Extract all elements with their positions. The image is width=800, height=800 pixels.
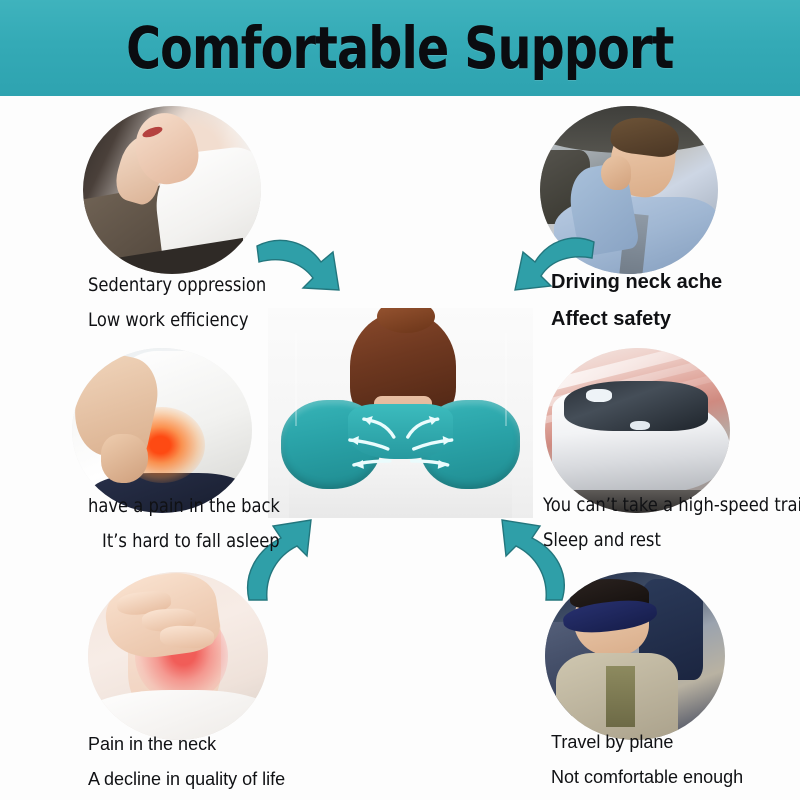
caption-driving-neck-ache: Driving neck ache Affect safety bbox=[551, 272, 722, 329]
caption-back-pain: have a pain in the back It’s hard to fal… bbox=[88, 497, 311, 551]
caption-line-1: have a pain in the back bbox=[88, 497, 280, 516]
hand-on-neck-shape bbox=[601, 156, 631, 190]
caption-line-1: Driving neck ache bbox=[551, 272, 722, 292]
caption-sedentary-oppression: Sedentary oppression Low work efficiency bbox=[88, 276, 295, 330]
finger-shape bbox=[160, 625, 215, 649]
caption-line-1: Pain in the neck bbox=[88, 735, 285, 753]
caption-neck-pain: Pain in the neck A decline in quality of… bbox=[88, 735, 285, 788]
high-speed-train-photo bbox=[545, 348, 730, 513]
caption-travel-by-plane: Travel by plane Not comfortable enough bbox=[551, 733, 743, 786]
pillow-seam bbox=[505, 333, 507, 425]
photo-content bbox=[83, 106, 261, 274]
caption-line-2: Not comfortable enough bbox=[551, 768, 743, 786]
pillow-flow-arrows-icon bbox=[316, 400, 486, 484]
photo-content bbox=[88, 572, 268, 740]
photo-content bbox=[545, 348, 730, 513]
photo-content bbox=[545, 572, 725, 740]
caption-line-1: Sedentary oppression bbox=[88, 276, 266, 295]
pillow-seam bbox=[295, 333, 297, 425]
center-product-image bbox=[268, 308, 533, 518]
caption-line-2: Affect safety bbox=[551, 309, 722, 329]
header-banner: Comfortable Support bbox=[0, 0, 800, 96]
caption-line-2: It’s hard to fall asleep bbox=[102, 532, 282, 551]
infographic-page: Comfortable Support bbox=[0, 0, 800, 800]
caption-high-speed-train: You can’t take a high-speed train Sleep … bbox=[543, 496, 800, 550]
page-title: Comfortable Support bbox=[126, 14, 673, 82]
caption-line-1: Travel by plane bbox=[551, 733, 743, 751]
shoulder-shape bbox=[88, 690, 268, 740]
caption-line-2: Low work efficiency bbox=[88, 311, 266, 330]
sedentary-office-worker-photo bbox=[83, 106, 261, 274]
back-pain-photo bbox=[72, 348, 252, 513]
collar-shape bbox=[606, 666, 635, 726]
photo-content bbox=[72, 348, 252, 513]
caption-line-1: You can’t take a high-speed train bbox=[543, 496, 800, 515]
caption-line-2: A decline in quality of life bbox=[88, 770, 285, 788]
hand-shape bbox=[101, 434, 148, 484]
caption-line-2: Sleep and rest bbox=[543, 531, 800, 550]
train-headlamp bbox=[586, 389, 612, 402]
neck-pain-photo bbox=[88, 572, 268, 740]
travel-by-plane-photo bbox=[545, 572, 725, 740]
